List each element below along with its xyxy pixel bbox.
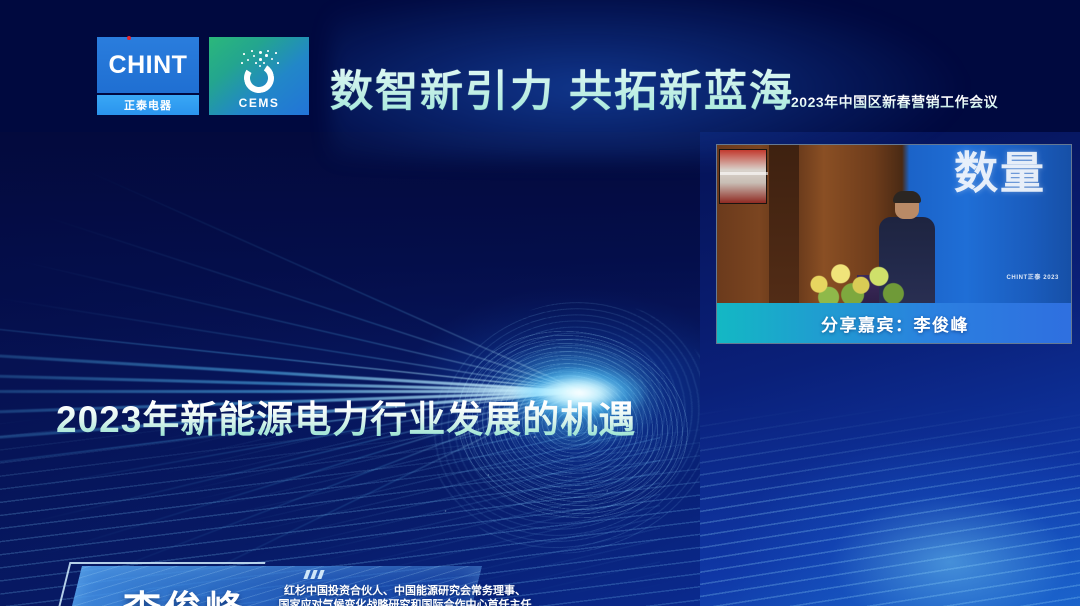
cems-logo: CEMS (209, 37, 309, 115)
stage-backdrop-text: 数量 (929, 151, 1071, 281)
event-subtitle: 2023年中国区新春营销工作会议 (791, 92, 998, 112)
chint-red-dot-icon (127, 36, 131, 40)
slide-canvas: 2023年新能源电力行业发展的机遇 李俊峰 红杉中国投资合伙人、中国能源研究会常… (0, 132, 700, 606)
speaker-credential-line-1: 红杉中国投资合伙人、中国能源研究会常务理事、 (270, 584, 540, 598)
presentation-screen: 2023年新能源电力行业发展的机遇 李俊峰 红杉中国投资合伙人、中国能源研究会常… (0, 0, 1080, 606)
chint-logo-subtitle: 正泰电器 (97, 95, 199, 115)
chint-logo-mark: CHINT (97, 37, 199, 93)
cems-tree-icon (233, 49, 285, 95)
speaker-nameplate: 李俊峰 红杉中国投资合伙人、中国能源研究会常务理事、 国家应对气候变化战略研究和… (55, 562, 485, 606)
flower-arrangement (795, 253, 915, 305)
speaker-video-panel[interactable]: 数量 CHINT正泰 2023 分享嘉宾：李俊峰 (716, 144, 1072, 344)
slide-title: 2023年新能源电力行业发展的机遇 (56, 389, 636, 443)
video-frame: 数量 CHINT正泰 2023 (717, 145, 1072, 305)
wall-monitor (719, 149, 767, 204)
speaker-credential-line-2: 国家应对气候变化战略研究和国际合作中心首任主任 (270, 598, 540, 606)
video-watermark: CHINT正泰 2023 (1006, 272, 1059, 281)
video-caption-bar: 分享嘉宾：李俊峰 (717, 303, 1072, 343)
cems-wordmark: CEMS (239, 96, 280, 110)
right-wave-lines (700, 406, 1080, 606)
speaker-details: 红杉中国投资合伙人、中国能源研究会常务理事、 国家应对气候变化战略研究和国际合作… (270, 584, 540, 606)
speaker-hair (893, 191, 921, 203)
nameplate-accent-dashes (303, 570, 324, 579)
chint-logo: CHINT 正泰电器 (97, 37, 199, 115)
speaker-name: 李俊峰 (123, 579, 246, 606)
video-caption-text: 分享嘉宾：李俊峰 (821, 311, 969, 336)
event-headline: 数智新引力 共拓新蓝海 (330, 57, 794, 119)
chint-wordmark: CHINT (109, 53, 188, 78)
